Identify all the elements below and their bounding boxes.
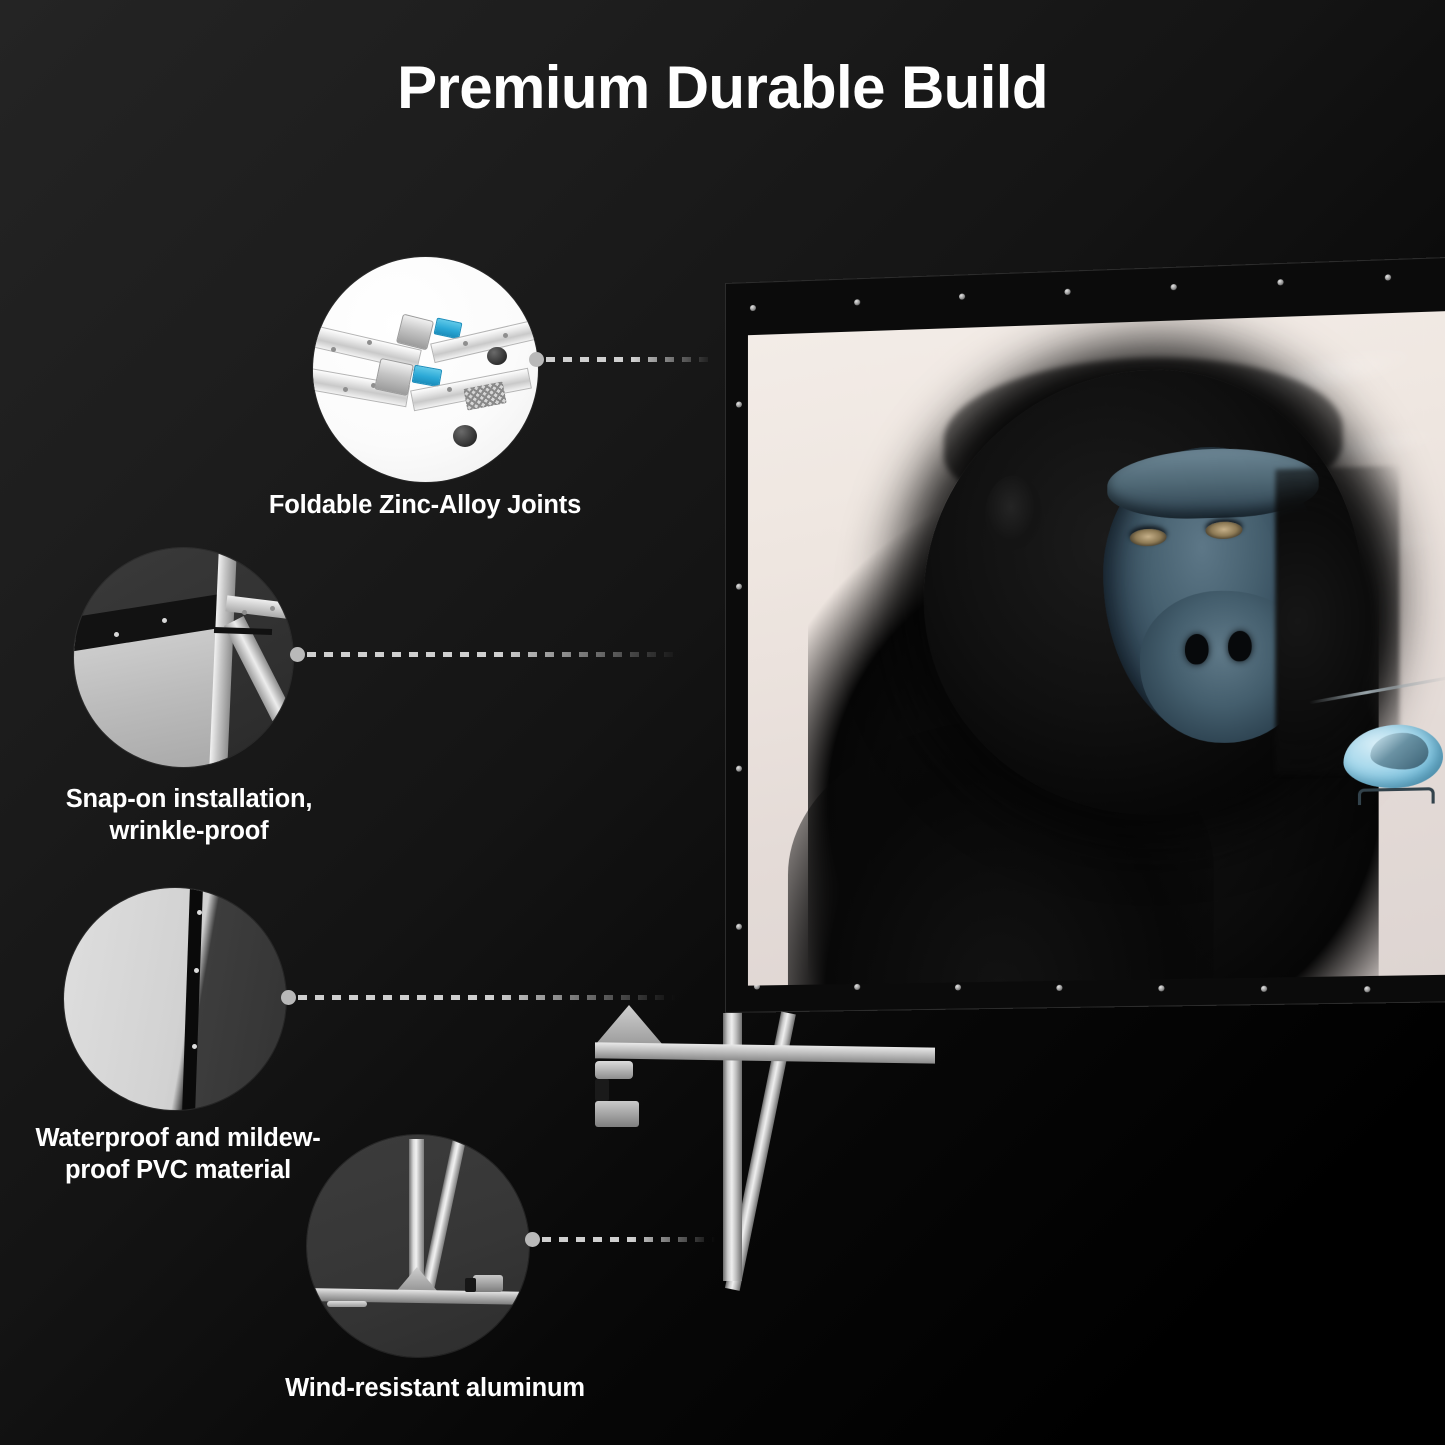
snap-button-icon (750, 305, 756, 311)
leader-dashes (298, 995, 676, 1000)
detail-photo-snap-on-installation (74, 548, 293, 767)
detail-photo-zinc-alloy-joints (313, 257, 538, 482)
locking-knob (453, 425, 477, 447)
leader-dashes (307, 652, 680, 657)
snap-button-icon (1385, 274, 1391, 280)
snap-button-icon (1065, 289, 1071, 295)
projector-screen (725, 283, 1445, 1013)
stand-foot-cap (595, 1061, 633, 1079)
snap-button-icon (955, 984, 961, 990)
frame-rail-diagonal (224, 616, 293, 767)
stand-diagonal-brace (422, 1138, 466, 1289)
stand-vertical-post (409, 1139, 424, 1285)
snap-button-icon (854, 299, 860, 305)
rail-screw-icon (367, 340, 372, 345)
leader-node-dot (525, 1232, 540, 1247)
snap-button-icon (736, 924, 742, 930)
leader-node-dot (529, 352, 544, 367)
leader-line-wind-resistant-aluminum (525, 1237, 715, 1242)
rail-screw-icon (503, 333, 508, 338)
locking-knob (487, 347, 507, 365)
leader-dashes (546, 357, 713, 362)
pvc-black-seam (182, 888, 204, 1110)
rail-screw-icon (242, 610, 247, 615)
gorilla-nostril-left (1185, 634, 1209, 665)
rail-screw-icon (331, 347, 336, 352)
projector-screen-stand (595, 1005, 955, 1325)
rail-screw-icon (162, 618, 167, 623)
stand-base-bar (595, 1042, 935, 1063)
snap-clip (412, 365, 443, 388)
rail-screw-icon (447, 387, 452, 392)
stand-brace-clamp-dark (595, 1079, 609, 1101)
leader-line-snap-on-installation (290, 652, 680, 657)
snap-button-icon (1277, 279, 1283, 285)
stand-brace-clamp-dark (465, 1278, 476, 1292)
feature-label-wind-resistant-aluminum: Wind-resistant aluminum (255, 1372, 615, 1404)
pvc-grommet-icon (192, 1044, 197, 1049)
feature-label-snap-on-installation: Snap-on installation, wrinkle-proof (24, 783, 354, 847)
snap-button-icon (1364, 986, 1370, 992)
snap-button-icon (1261, 986, 1267, 992)
snap-button-icon (1056, 985, 1062, 991)
leader-line-zinc-alloy-joints (529, 357, 713, 362)
stand-foot-cap (327, 1301, 367, 1307)
stand-brace-bracket (473, 1275, 503, 1292)
detail-photo-wind-resistant-aluminum (307, 1135, 529, 1357)
pvc-grommet-icon (197, 910, 202, 915)
detail-photo-pvc-material (64, 888, 286, 1110)
gorilla-nostril-right (1228, 631, 1252, 662)
snap-button-icon (854, 984, 860, 990)
stand-brace-bracket (595, 1101, 639, 1127)
snap-button-icon (736, 766, 742, 772)
snap-button-icon (1158, 985, 1164, 991)
rail-screw-icon (114, 632, 119, 637)
feature-label-zinc-alloy-joints: Foldable Zinc-Alloy Joints (245, 489, 605, 521)
leader-node-dot (290, 647, 305, 662)
leader-line-pvc-material (281, 995, 676, 1000)
rail-screw-icon (463, 341, 468, 346)
snap-button-icon (959, 293, 965, 299)
rail-screw-icon (343, 387, 348, 392)
leader-node-dot (281, 990, 296, 1005)
pvc-grommet-icon (194, 968, 199, 973)
leader-dashes (542, 1237, 715, 1242)
page-title: Premium Durable Build (0, 56, 1445, 119)
zinc-alloy-joint (374, 358, 414, 396)
snap-button-icon (736, 401, 742, 407)
helicopter-skid (1358, 787, 1435, 805)
rail-screw-icon (270, 606, 275, 611)
stand-gusset (595, 1005, 663, 1045)
screen-border-frame (725, 257, 1445, 1013)
product-feature-image: Premium Durable Build (0, 0, 1445, 1445)
snap-button-icon (1171, 284, 1177, 290)
feature-label-pvc-material: Waterproof and mildew- proof PVC materia… (8, 1122, 348, 1186)
snap-button-icon (736, 584, 742, 590)
projected-image-surface (748, 311, 1445, 986)
